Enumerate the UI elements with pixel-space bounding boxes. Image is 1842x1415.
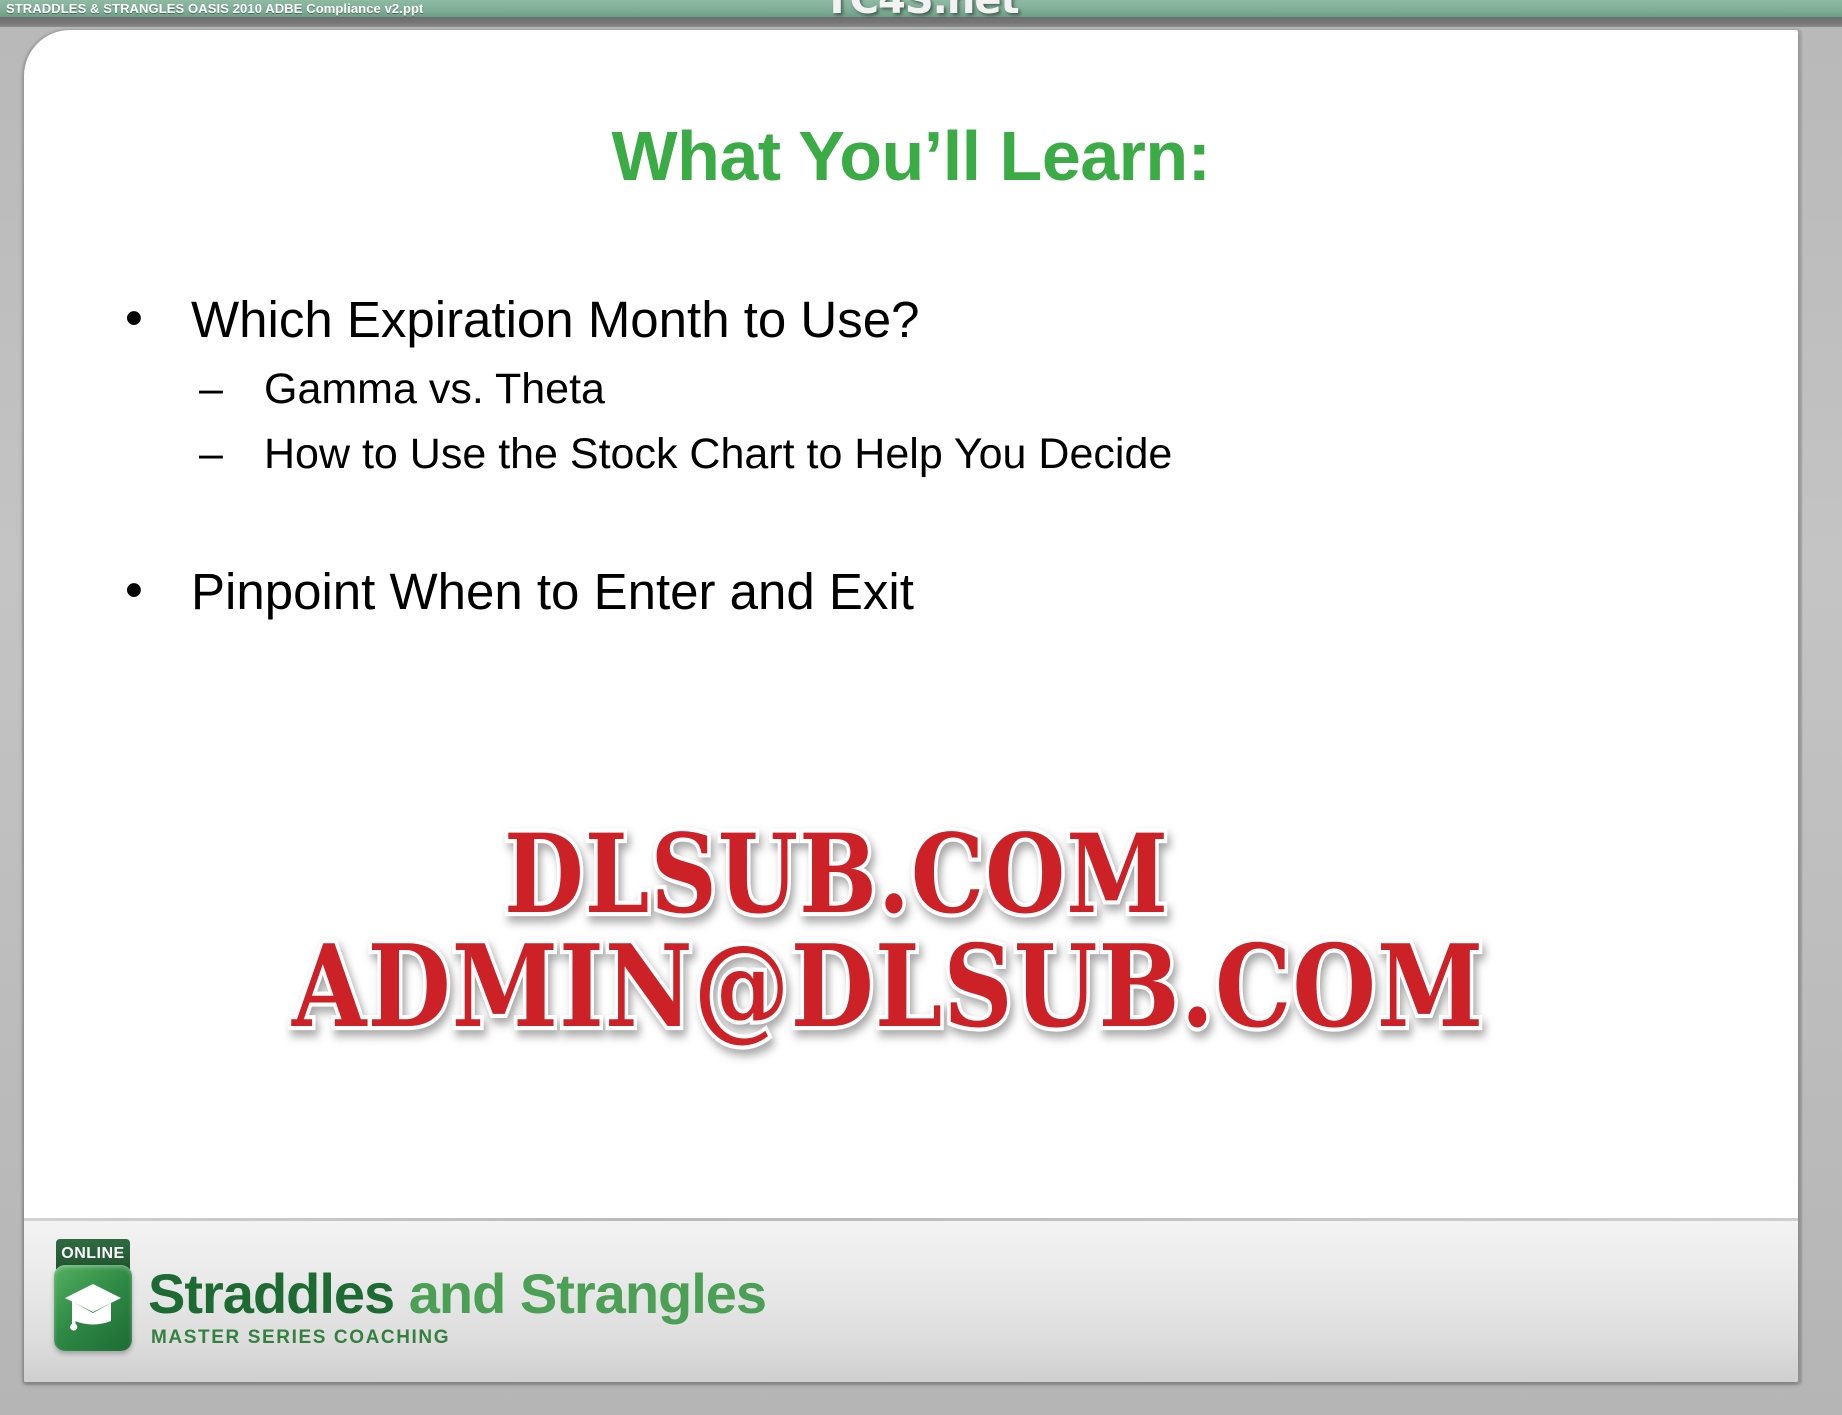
presentation-viewer: STRADDLES & STRANGLES OASIS 2010 ADBE Co… — [0, 0, 1842, 1415]
bullet-item-level1: • Which Expiration Month to Use? — [119, 290, 1719, 350]
slide-canvas: What You’ll Learn: • Which Expiration Mo… — [24, 30, 1798, 1382]
slide-footer: ONLINE Straddles and Strangles MASTER SE… — [24, 1221, 1798, 1382]
brand-tagline: MASTER SERIES COACHING — [151, 1327, 450, 1349]
watermark-email: ADMIN@DLSUB.COM — [292, 920, 1484, 1053]
slide-title: What You’ll Learn: — [24, 116, 1798, 196]
brand-word-primary: Straddles — [148, 1262, 394, 1325]
bullet-item-level2: – Gamma vs. Theta — [119, 364, 1719, 415]
bullet-marker-dash: – — [199, 429, 223, 480]
bullet-text: Which Expiration Month to Use? — [191, 291, 920, 348]
bullet-item-level2: – How to Use the Stock Chart to Help You… — [119, 429, 1719, 480]
bullet-text: How to Use the Stock Chart to Help You D… — [264, 430, 1172, 478]
bullet-marker-dash: – — [199, 364, 223, 415]
watermark-site: DLSUB.COM — [504, 810, 1169, 937]
window-title-text: STRADDLES & STRANGLES OASIS 2010 ADBE Co… — [6, 0, 423, 17]
bullet-spacer — [119, 480, 1719, 562]
titlebar-underline — [0, 17, 1842, 27]
bullet-text: Gamma vs. Theta — [264, 365, 605, 413]
graduation-cap-icon — [54, 1265, 132, 1351]
window-titlebar: STRADDLES & STRANGLES OASIS 2010 ADBE Co… — [0, 0, 1842, 17]
bullet-marker-dot: • — [125, 560, 143, 620]
bullet-item-level1: • Pinpoint When to Enter and Exit — [119, 562, 1719, 622]
brand-logo: ONLINE Straddles and Strangles MASTER SE… — [52, 1239, 812, 1361]
bullet-text: Pinpoint When to Enter and Exit — [191, 563, 914, 620]
bullet-marker-dot: • — [125, 288, 143, 348]
brand-wordmark: Straddles and Strangles — [148, 1261, 766, 1326]
brand-word-secondary: and Strangles — [394, 1262, 766, 1325]
slide-bullet-list: • Which Expiration Month to Use? – Gamma… — [119, 290, 1719, 632]
